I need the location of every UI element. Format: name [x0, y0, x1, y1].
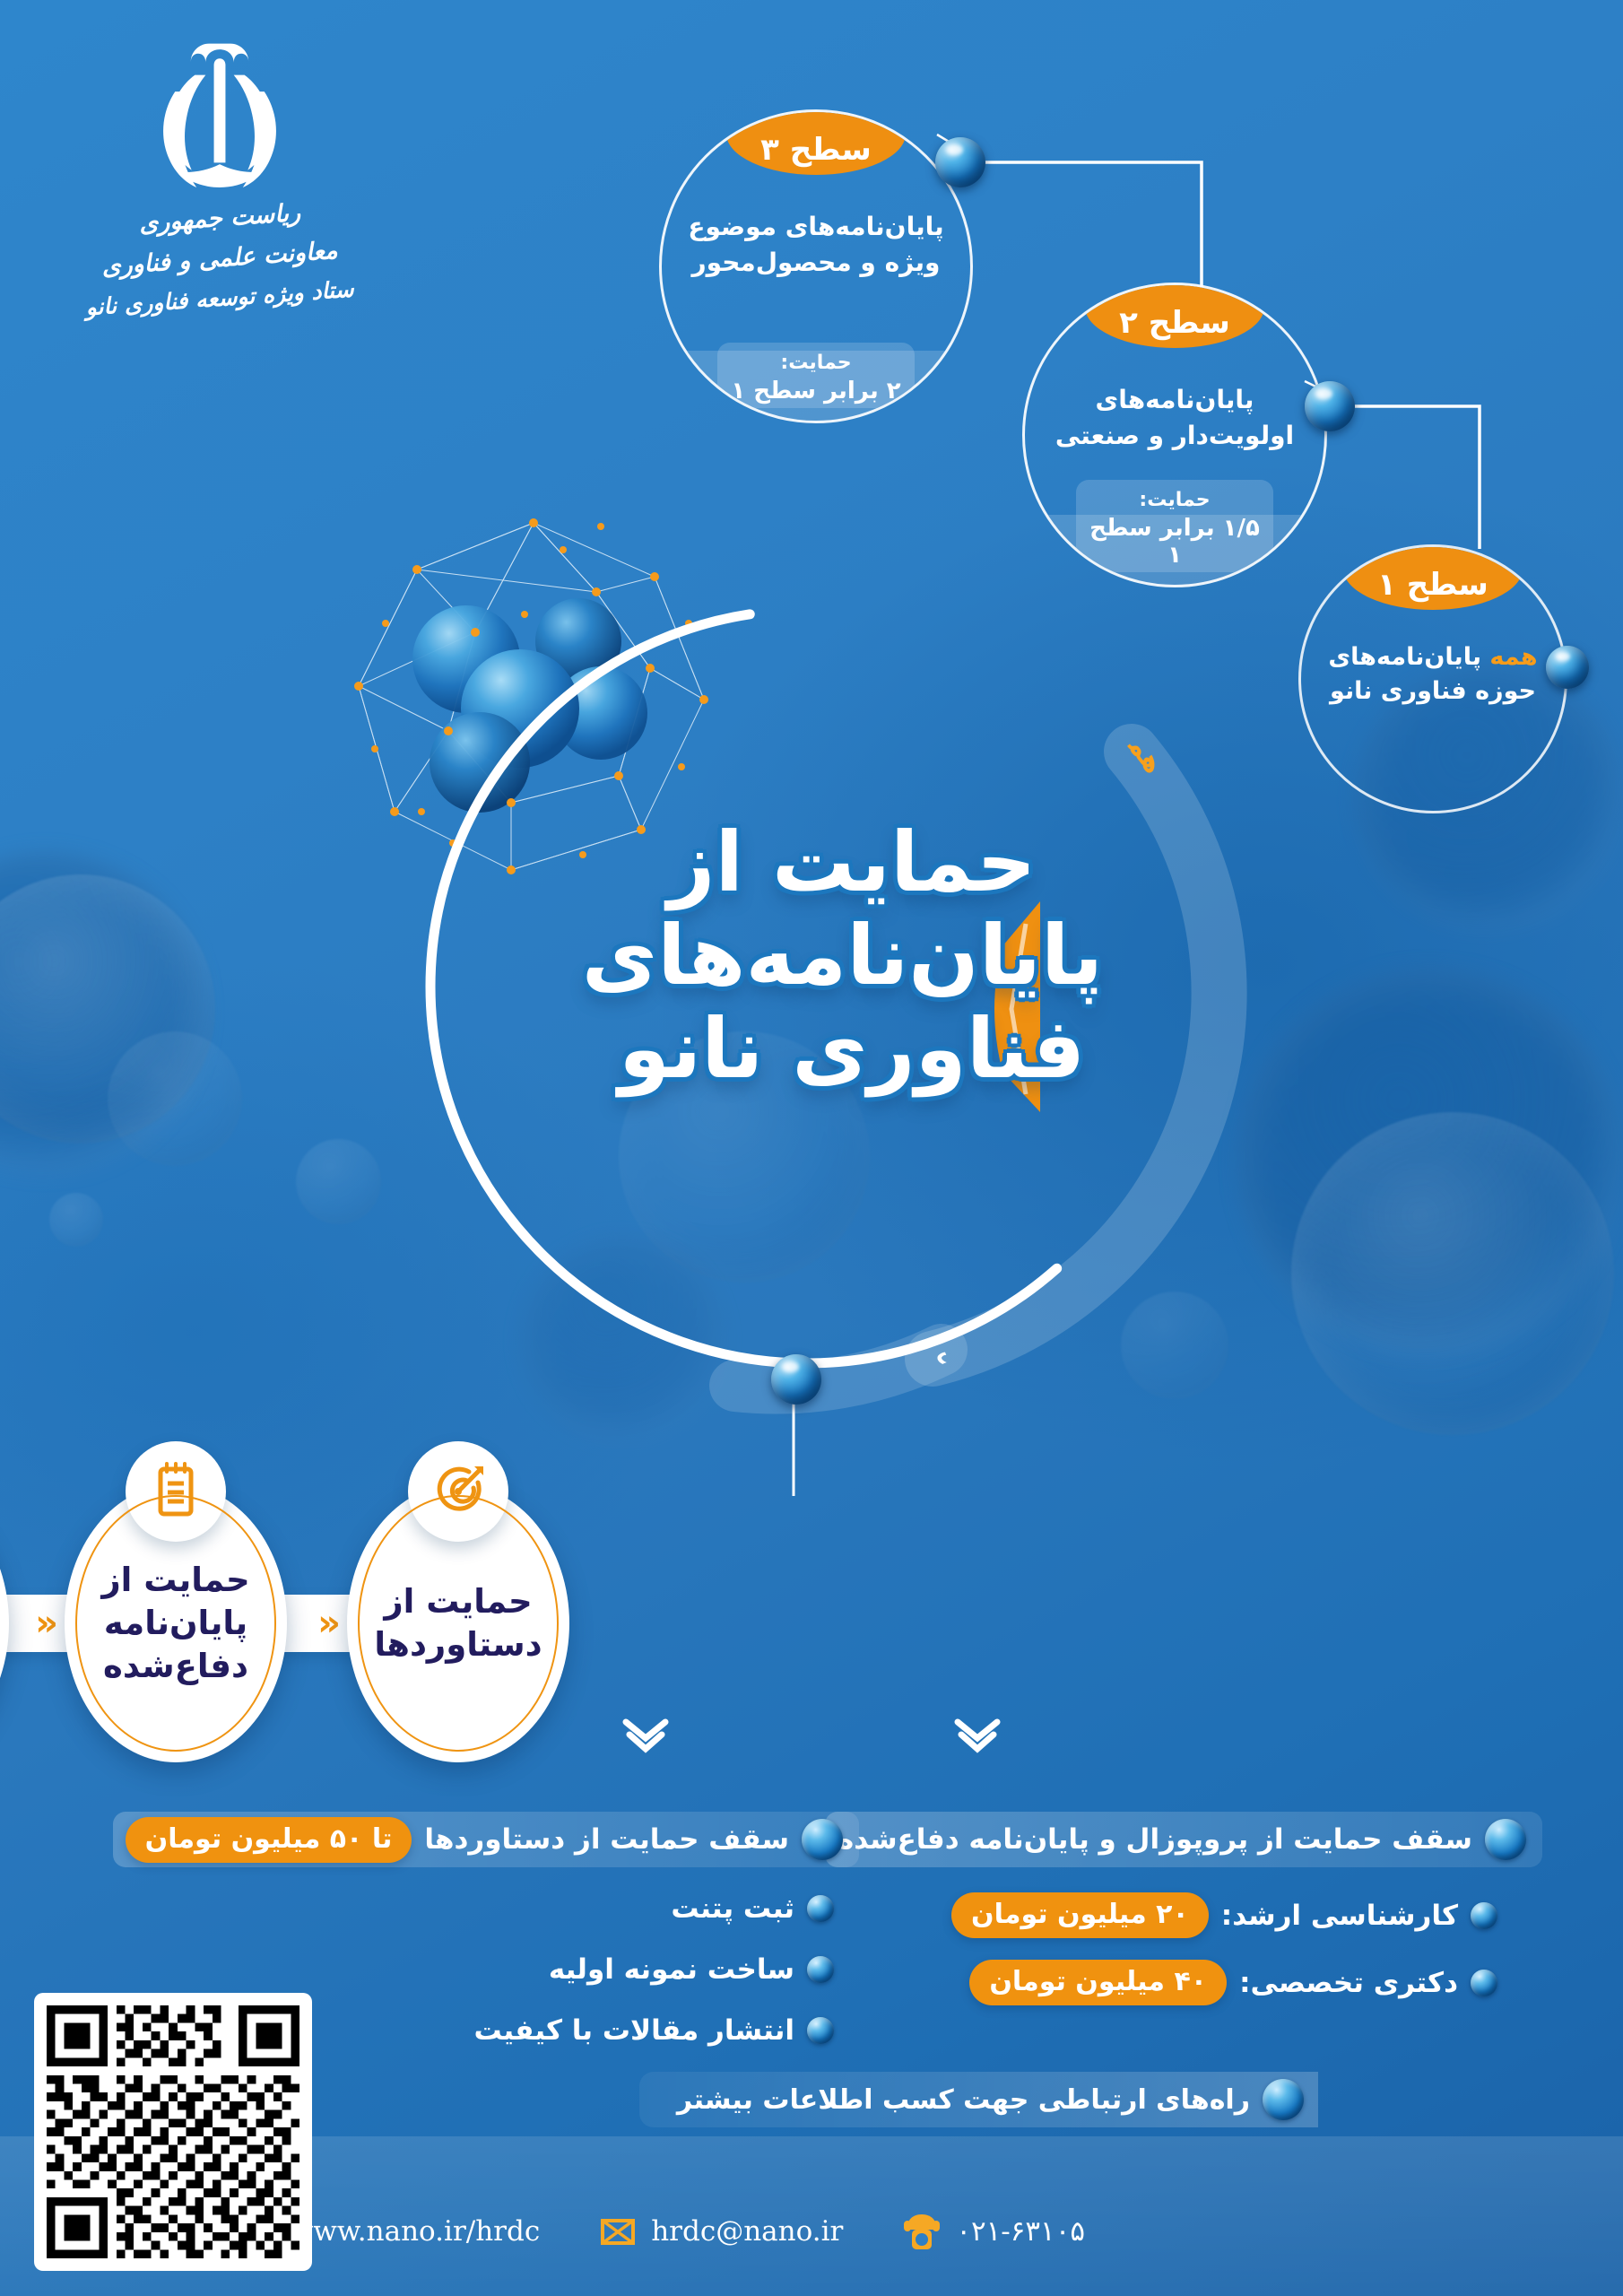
logo-line-vicepresidency: معاونت علمی و فناوری [84, 236, 354, 283]
background-bubble [1237, 969, 1623, 1354]
level-1-title-highlight: همه [1489, 643, 1537, 671]
contact-text: hrdc@nano.ir [651, 2215, 843, 2248]
level-2-badge-label: سطح ۲ [1119, 305, 1230, 341]
level-3-support-value: ۲ برابر سطح ۱ [723, 378, 909, 404]
panel-item-patent: ثبت پتنت [671, 1892, 834, 1925]
envelope-icon [599, 2213, 637, 2250]
chevron-down-icon [950, 1715, 1004, 1756]
center-node-sphere [771, 1354, 821, 1405]
contact-phone[interactable]: ۰۲۱-۶۳۱۰۵ [902, 2210, 1085, 2253]
level-3-badge-label: سطح ۳ [760, 132, 872, 168]
row-label: دکتری تخصصی: [1239, 1967, 1458, 1999]
footer-contacts: www.nano.ir/hrdc hrdc@nano.ir ۰۲۱-۶۳۱۰۵ [234, 2210, 1085, 2253]
level-1-title: همه پایان‌نامه‌های حوزه فناوری نانو [1301, 640, 1565, 709]
step-connector-glyph: « [35, 1605, 58, 1641]
background-bubble [108, 1031, 242, 1166]
step-label: حمایت از پایان‌نامه دفاع‌شده [77, 1559, 274, 1688]
svg-text:همه پایان‌نامه‌های حو: همه پایان‌نامه‌های حوزه فناوری نانو حمای… [359, 538, 1169, 779]
bullet-orb-icon [1471, 1902, 1497, 1929]
panel-heading-text: سقف حمایت از دستاوردها [424, 1823, 789, 1856]
row-value-pill: ۴۰ میلیون تومان [969, 1960, 1227, 2005]
arc-caption-text: پایان‌نامه‌های حوزه فناوری نانو حمایت می… [359, 538, 374, 545]
item-text: انتشار مقالات با کیفیت [474, 2014, 794, 2047]
page-title: حمایت از پایان‌نامه‌های فناوری نانو [601, 821, 1103, 1091]
iran-emblem-icon [135, 40, 305, 197]
step-support-defended-thesis[interactable]: حمایت از پایان‌نامه دفاع‌شده [65, 1484, 287, 1762]
logo-line-nano-hq: ستاد ویژه توسعه فناوری نانو [84, 276, 354, 321]
item-text: ثبت پتنت [671, 1892, 794, 1925]
footer-contact-heading: راه‌های ارتباطی جهت کسب اطلاعات بیشتر [639, 2072, 1318, 2127]
bullet-orb-icon [807, 1895, 834, 1922]
level-3-support-label: حمایت: [723, 352, 909, 374]
bullet-orb-icon [807, 2017, 834, 2044]
bullet-orb-icon [1471, 1970, 1497, 1996]
qr-code[interactable] [34, 1993, 312, 2271]
achievements-ceiling-pill: تا ۵۰ میلیون تومان [126, 1817, 412, 1863]
level-2-support-label: حمایت: [1081, 489, 1268, 511]
row-label: کارشناسی ارشد: [1221, 1900, 1458, 1932]
level-2-title: پایان‌نامه‌های اولویت‌دار و صنعتی [1025, 382, 1324, 454]
level-3-support: حمایت: ۲ برابر سطح ۱ [717, 343, 915, 408]
panel-heading-text: سقف حمایت از پروپوزال و پایان‌نامه دفاع‌… [838, 1823, 1472, 1856]
organization-logo-block: ریاست جمهوری معاونت علمی و فناوری ستاد و… [85, 40, 354, 311]
level-3-node-sphere [935, 137, 985, 187]
page-title-line-2: پایان‌نامه‌های [601, 914, 1103, 998]
row-value-pill: ۲۰ میلیون تومان [951, 1892, 1209, 1938]
step-ring: حمایت از دستاوردها [358, 1495, 559, 1752]
item-text: ساخت نمونه اولیه [549, 1953, 794, 1986]
contact-email[interactable]: hrdc@nano.ir [599, 2213, 843, 2250]
panel-proposal-ceiling-heading: سقف حمایت از پروپوزال و پایان‌نامه دفاع‌… [825, 1812, 1542, 1867]
footer-heading-text: راه‌های ارتباطی جهت کسب اطلاعات بیشتر [677, 2084, 1250, 2116]
bullet-orb-icon [1263, 2079, 1304, 2120]
bullet-orb-icon [1485, 1819, 1526, 1860]
level-3-badge: سطح ۳ [726, 109, 906, 175]
page-title-line-3: فناوری نانو [601, 1007, 1103, 1091]
level-1-badge-label: سطح ۱ [1377, 567, 1488, 603]
contact-text: www.nano.ir/hrdc [290, 2215, 540, 2248]
panel-item-articles: انتشار مقالات با کیفیت [474, 2014, 834, 2047]
panel-row-masters: کارشناسی ارشد: ۲۰ میلیون تومان [951, 1892, 1497, 1938]
contact-text: ۰۲۱-۶۳۱۰۵ [956, 2215, 1085, 2248]
level-1-node-sphere [1546, 646, 1589, 689]
panel-achievements-ceiling-heading: سقف حمایت از دستاوردها تا ۵۰ میلیون توما… [113, 1812, 859, 1867]
poster-canvas: ریاست جمهوری معاونت علمی و فناوری ستاد و… [0, 0, 1623, 2296]
panel-row-phd: دکتری تخصصی: ۴۰ میلیون تومان [969, 1960, 1497, 2005]
arc-caption-highlight: همه [359, 538, 1169, 779]
step-support-achievements[interactable]: حمایت از دستاوردها [347, 1484, 569, 1762]
page-title-line-1: حمایت از [601, 821, 1103, 905]
background-bubble [49, 1193, 103, 1247]
bullet-orb-icon [802, 1819, 843, 1860]
level-1-badge: سطح ۱ [1343, 544, 1523, 610]
background-bubble [1291, 1112, 1614, 1435]
background-bubble [0, 852, 206, 1175]
level-3-title: پایان‌نامه‌های موضوع ویژه و محصول‌محور [662, 209, 970, 281]
level-2-node-sphere [1305, 381, 1355, 431]
level-1-circle[interactable]: سطح ۱ همه پایان‌نامه‌های حوزه فناوری نان… [1298, 544, 1567, 813]
logo-line-presidency: ریاست جمهوری [84, 196, 354, 242]
background-bubble [0, 874, 215, 1144]
bullet-orb-icon [807, 1956, 834, 1983]
step-connector-glyph: « [317, 1605, 341, 1641]
panel-item-prototype: ساخت نمونه اولیه [549, 1953, 834, 1986]
step-support-proposal[interactable]: حمایت از پروپوزال [0, 1484, 9, 1762]
level-3-circle[interactable]: سطح ۳ پایان‌نامه‌های موضوع ویژه و محصول‌… [659, 109, 973, 423]
step-ring: حمایت از پایان‌نامه دفاع‌شده [75, 1495, 276, 1752]
chevron-down-icon [619, 1715, 673, 1756]
phone-icon [902, 2210, 942, 2253]
step-label: حمایت از دستاوردها [360, 1580, 557, 1666]
level-2-badge: سطح ۲ [1085, 283, 1264, 348]
